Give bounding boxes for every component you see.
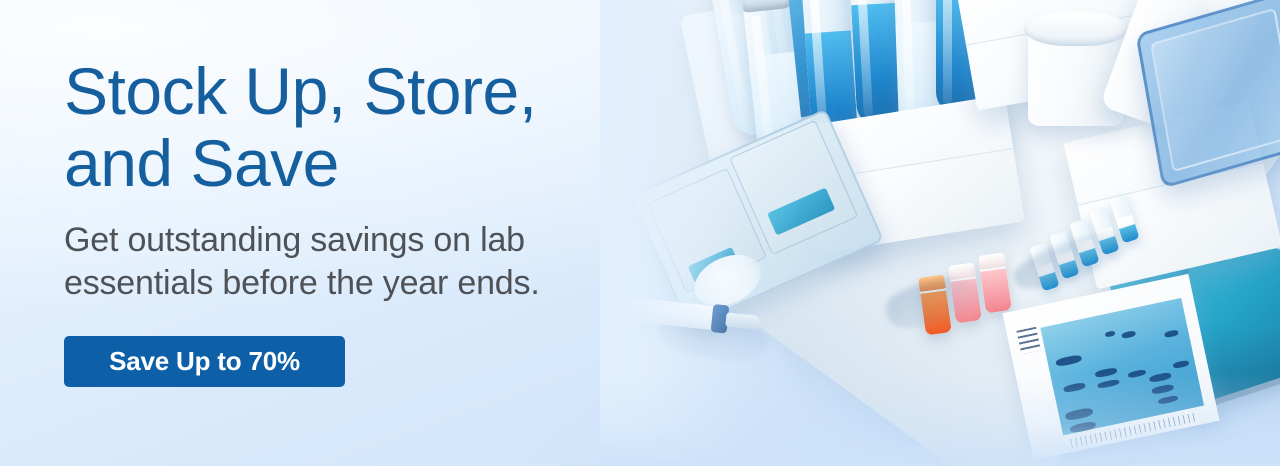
gel-band [1158, 395, 1179, 405]
subheadline-line-2: essentials before the year ends. [64, 264, 540, 302]
vial-cap [978, 252, 1008, 270]
gel-caption-text: Exp.n. 3 0 1 Lab 2 01425 (28) [1046, 444, 1193, 466]
gel-band [1105, 330, 1116, 337]
lab-supplies-photo: Exp.n. 3 0 1 Lab 2 01425 (28) [600, 0, 1280, 466]
gel-band [1121, 330, 1136, 339]
promo-subheadline: Get outstanding savings on lab essential… [64, 219, 644, 305]
gel-band [1095, 367, 1118, 378]
subheadline-line-1: Get outstanding savings on lab [64, 221, 525, 259]
tube-highlight [943, 0, 952, 104]
gel-ladder-scale [1016, 327, 1041, 355]
specimen-jar [1028, 20, 1124, 126]
gel-band [1151, 384, 1174, 395]
headline-line-2: and Save [64, 126, 339, 200]
headline-line-1: Stock Up, Store, [64, 54, 537, 128]
sample-vial-pink [978, 252, 1012, 313]
gel-band [1064, 407, 1093, 422]
bin-facet [1150, 8, 1280, 173]
gel-band [1173, 360, 1190, 369]
gel-band [1149, 372, 1172, 383]
gel-band [1069, 421, 1096, 434]
gel-band [1063, 382, 1086, 393]
gel-band [1128, 369, 1147, 379]
save-up-to-70-percent-button[interactable]: Save Up to 70% [64, 336, 345, 387]
tube-cap [739, 0, 791, 13]
gel-band [1097, 379, 1120, 389]
gel-band [1055, 354, 1082, 367]
promo-banner: Exp.n. 3 0 1 Lab 2 01425 (28) Stock Up, … [0, 0, 1280, 466]
vial-liquid [980, 269, 1012, 314]
gel-electrophoresis-printout: Exp.n. 3 0 1 Lab 2 01425 (28) [1002, 274, 1219, 460]
gel-band [1164, 329, 1179, 338]
promo-copy-block: Stock Up, Store, and Save Get outstandin… [64, 55, 644, 387]
blue-storage-bin [1135, 0, 1280, 189]
cta-container: Save Up to 70% [64, 336, 644, 387]
page-title: Stock Up, Store, and Save [64, 55, 644, 199]
photo-props-layer: Exp.n. 3 0 1 Lab 2 01425 (28) [600, 0, 1280, 466]
pipette-tip [725, 312, 760, 329]
jar-lid [1024, 12, 1128, 46]
